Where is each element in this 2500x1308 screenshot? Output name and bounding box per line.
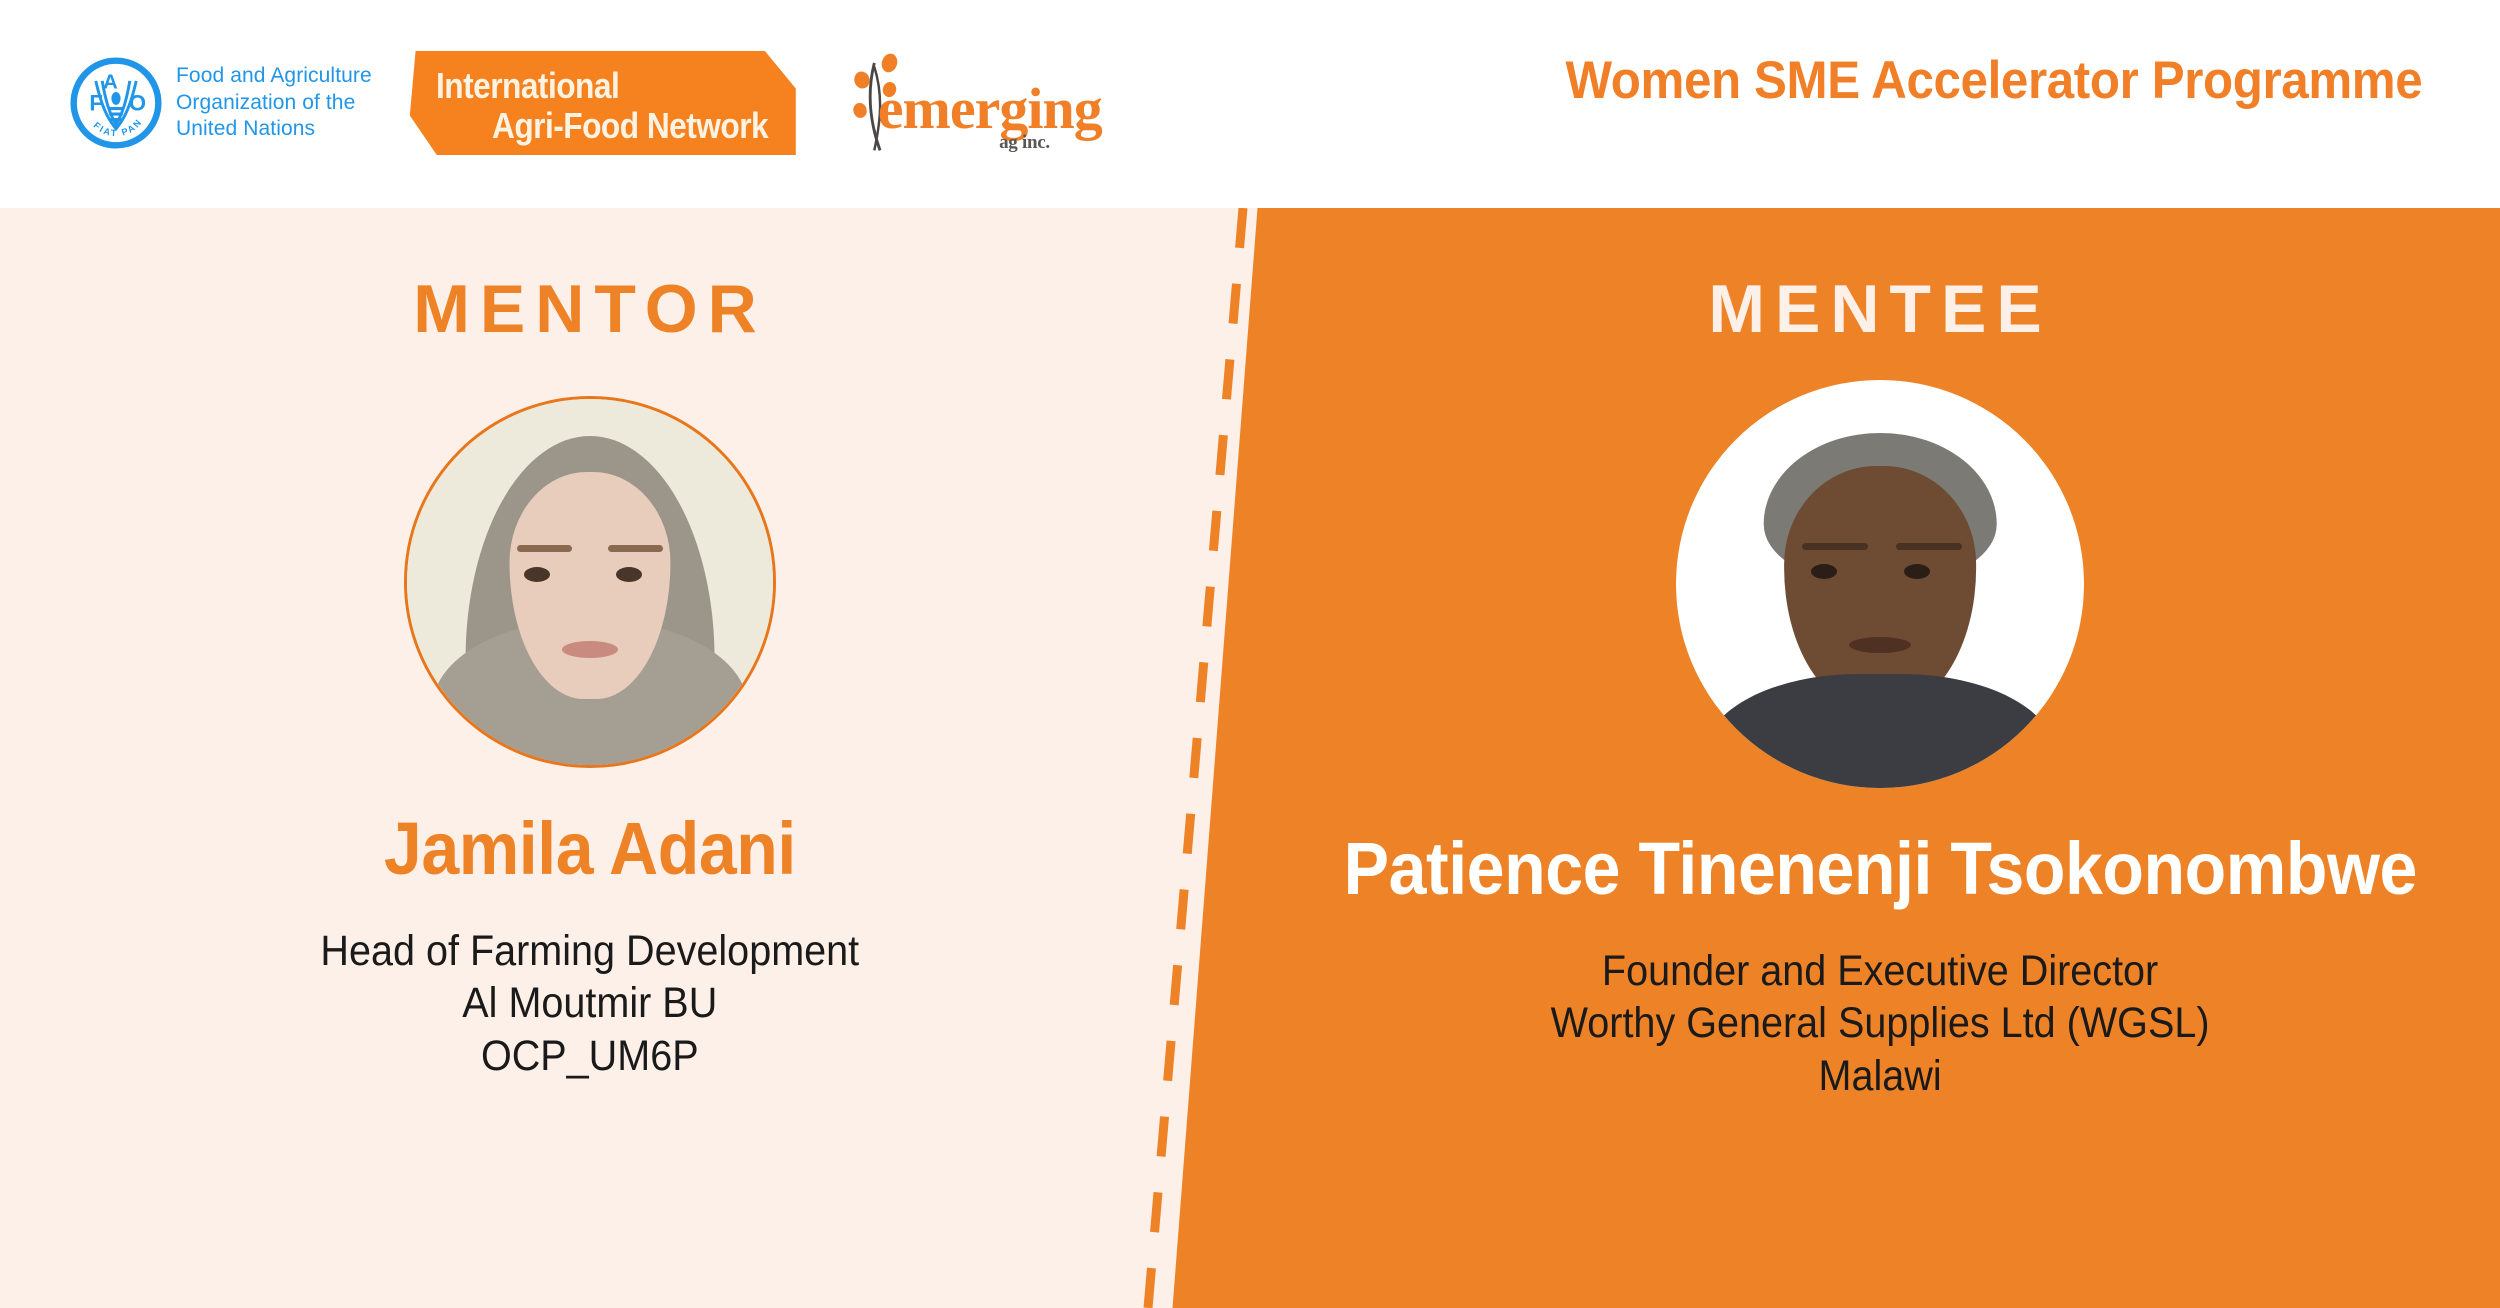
iafn-line-2: Agri-Food Network bbox=[492, 105, 768, 147]
fao-text-line-2: Organization of the bbox=[176, 90, 372, 117]
emerging-ag-wordmark: emerging bbox=[878, 80, 1102, 138]
mentee-eye-left bbox=[1811, 564, 1837, 579]
fao-logo: F A O FIAT PANIS Food and Agriculture Or… bbox=[70, 57, 372, 149]
mentor-detail-line-3: OCP_UM6P bbox=[321, 1030, 860, 1082]
emerging-ag-subtext: ag inc. bbox=[999, 132, 1050, 154]
slide-canvas: F A O FIAT PANIS Food and Agriculture Or… bbox=[0, 0, 2500, 1308]
mentee-avatar bbox=[1676, 380, 2084, 788]
fao-text-line-3: United Nations bbox=[176, 116, 372, 143]
svg-text:O: O bbox=[129, 90, 146, 115]
mentee-brow-right bbox=[1896, 543, 1961, 550]
emerging-ag-logo: emerging ag inc. bbox=[842, 48, 1072, 158]
mentor-role-label: MENTOR bbox=[413, 270, 766, 348]
mentee-brow-left bbox=[1802, 543, 1867, 550]
mentee-detail-line-2: Worthy General Supplies Ltd (WGSL) bbox=[1551, 997, 2210, 1049]
mentor-column: MENTOR Jamila Adani Head of Farming Deve… bbox=[0, 208, 1180, 1308]
svg-text:F: F bbox=[89, 90, 103, 115]
fao-logo-text: Food and Agriculture Organization of the… bbox=[176, 63, 372, 144]
fao-text-line-1: Food and Agriculture bbox=[176, 63, 372, 90]
mentee-detail-line-3: Malawi bbox=[1551, 1050, 2210, 1102]
header-bar: F A O FIAT PANIS Food and Agriculture Or… bbox=[0, 0, 2500, 208]
iafn-line-1: International bbox=[436, 65, 619, 107]
fao-emblem-icon: F A O FIAT PANIS bbox=[70, 57, 162, 149]
logo-strip: F A O FIAT PANIS Food and Agriculture Or… bbox=[70, 28, 1072, 178]
mentor-avatar bbox=[404, 396, 776, 768]
mentee-details: Founder and Executive Director Worthy Ge… bbox=[1551, 945, 2210, 1102]
international-agri-food-network-logo: International Agri-Food Network bbox=[410, 51, 796, 155]
mentee-role-label: MENTEE bbox=[1708, 270, 2051, 348]
svg-text:A: A bbox=[103, 71, 118, 93]
mentor-detail-line-2: Al Moutmir BU bbox=[321, 977, 860, 1029]
page-title: Women SME Accelerator Programme bbox=[1565, 50, 2422, 111]
mentor-brow-left bbox=[517, 545, 572, 552]
mentor-name: Jamila Adani bbox=[384, 806, 796, 891]
mentor-avatar-clip bbox=[407, 399, 773, 765]
mentee-name: Patience Tinenenji Tsokonombwe bbox=[1343, 826, 2416, 911]
mentee-eye-right bbox=[1904, 564, 1930, 579]
mentee-mouth bbox=[1849, 637, 1911, 653]
mentor-brow-right bbox=[608, 545, 663, 552]
mentor-mouth bbox=[562, 641, 618, 658]
mentor-details: Head of Farming Development Al Moutmir B… bbox=[321, 925, 860, 1082]
mentee-avatar-clip bbox=[1676, 380, 2084, 788]
mentor-detail-line-1: Head of Farming Development bbox=[321, 925, 860, 977]
mentee-detail-line-1: Founder and Executive Director bbox=[1551, 945, 2210, 997]
mentee-column: MENTEE Patience Tinenenji Tsokonombwe Fo… bbox=[1260, 208, 2500, 1308]
